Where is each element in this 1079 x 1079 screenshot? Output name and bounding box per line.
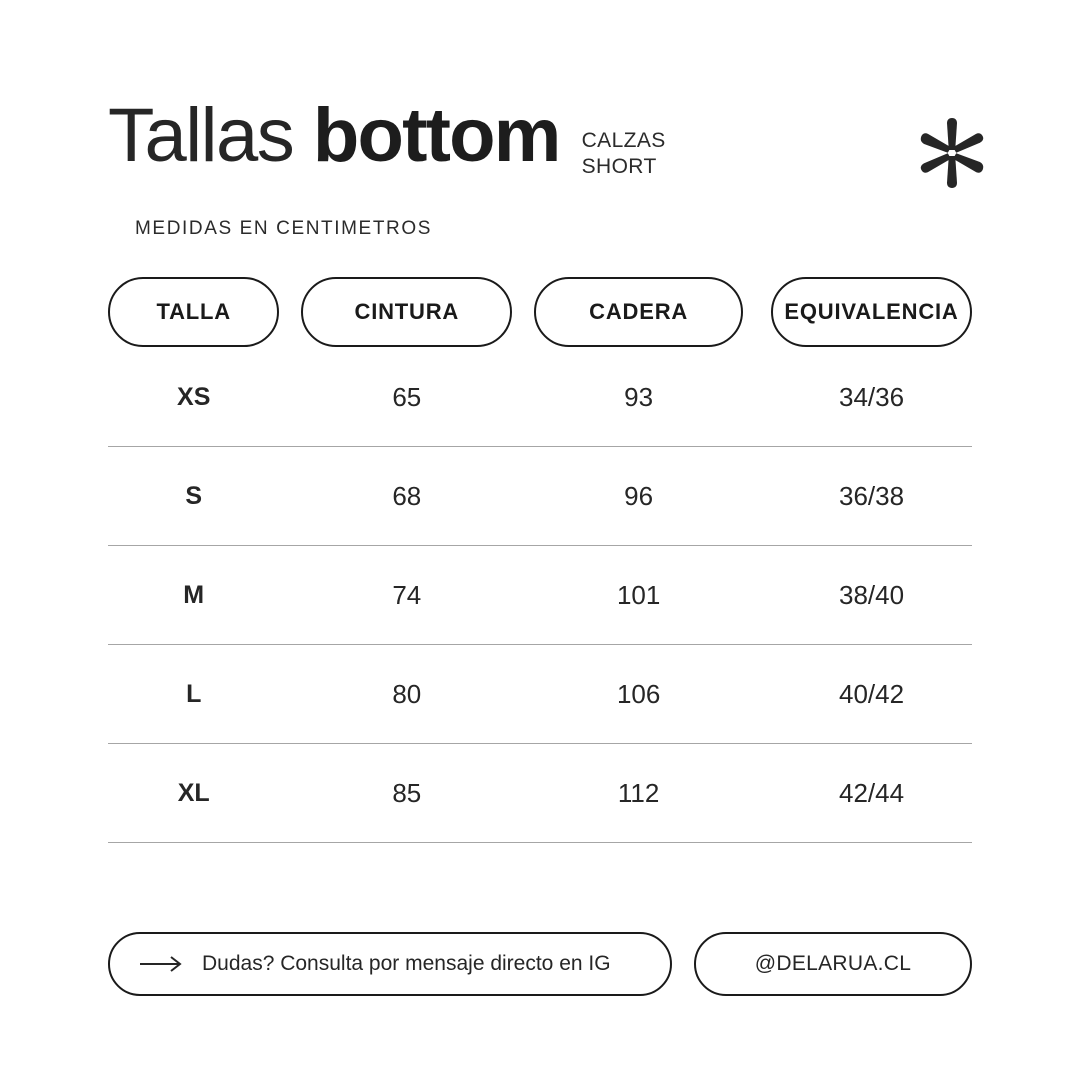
measurement-unit-note: MEDIDAS EN CENTIMETROS — [135, 218, 432, 240]
dm-cta-button[interactable]: Dudas? Consulta por mensaje directo en I… — [108, 932, 672, 996]
instagram-handle-button[interactable]: @DELARUA.CL — [694, 932, 972, 996]
cell-equivalencia: 38/40 — [771, 580, 972, 611]
cell-cintura: 68 — [301, 481, 512, 512]
arrow-right-icon — [138, 954, 186, 974]
column-header-talla-label: TALLA — [156, 299, 230, 325]
cell-equivalencia: 34/36 — [771, 382, 972, 413]
subtitle-line-2: SHORT — [582, 154, 666, 180]
cell-cadera: 93 — [534, 382, 743, 413]
table-body: XS 65 93 34/36 S 68 96 36/38 M 74 101 38… — [108, 348, 972, 843]
column-header-cintura-label: CINTURA — [355, 299, 460, 325]
column-header-talla: TALLA — [108, 277, 279, 347]
table-row: L 80 106 40/42 — [108, 645, 972, 744]
cell-cintura: 85 — [301, 778, 512, 809]
table-row: XL 85 112 42/44 — [108, 744, 972, 843]
cell-equivalencia: 42/44 — [771, 778, 972, 809]
cell-size: L — [108, 680, 279, 709]
instagram-handle-label: @DELARUA.CL — [755, 952, 912, 976]
column-header-cadera: CADERA — [534, 277, 743, 347]
column-header-equivalencia-label: EQUIVALENCIA — [784, 299, 958, 325]
cell-size: S — [108, 482, 279, 511]
asterisk-icon — [916, 114, 988, 192]
table-header-row: TALLA CINTURA CADERA EQUIVALENCIA — [108, 276, 972, 348]
column-header-cadera-label: CADERA — [589, 299, 688, 325]
title-light-part: Tallas — [108, 98, 313, 174]
cell-cintura: 80 — [301, 679, 512, 710]
table-row: S 68 96 36/38 — [108, 447, 972, 546]
table-row: XS 65 93 34/36 — [108, 348, 972, 447]
page-title: Tallas bottom — [108, 98, 560, 174]
cell-size: XL — [108, 779, 279, 808]
cell-cintura: 74 — [301, 580, 512, 611]
column-header-cintura: CINTURA — [301, 277, 512, 347]
cell-cadera: 112 — [534, 778, 743, 809]
cell-cadera: 101 — [534, 580, 743, 611]
cell-size: XS — [108, 383, 279, 412]
header: Tallas bottom CALZAS SHORT — [108, 98, 980, 194]
size-chart-page: Tallas bottom CALZAS SHORT MEDIDAS EN CE… — [0, 0, 1079, 1079]
column-header-equivalencia: EQUIVALENCIA — [771, 277, 972, 347]
cell-size: M — [108, 581, 279, 610]
title-subtitle: CALZAS SHORT — [582, 98, 666, 181]
cell-cintura: 65 — [301, 382, 512, 413]
dm-cta-label: Dudas? Consulta por mensaje directo en I… — [202, 952, 611, 976]
subtitle-line-1: CALZAS — [582, 128, 666, 154]
cell-cadera: 96 — [534, 481, 743, 512]
cell-cadera: 106 — [534, 679, 743, 710]
cell-equivalencia: 36/38 — [771, 481, 972, 512]
footer: Dudas? Consulta por mensaje directo en I… — [108, 932, 972, 996]
title-bold-part: bottom — [313, 98, 560, 174]
size-table: TALLA CINTURA CADERA EQUIVALENCIA XS 65 … — [108, 276, 972, 843]
table-row: M 74 101 38/40 — [108, 546, 972, 645]
cell-equivalencia: 40/42 — [771, 679, 972, 710]
